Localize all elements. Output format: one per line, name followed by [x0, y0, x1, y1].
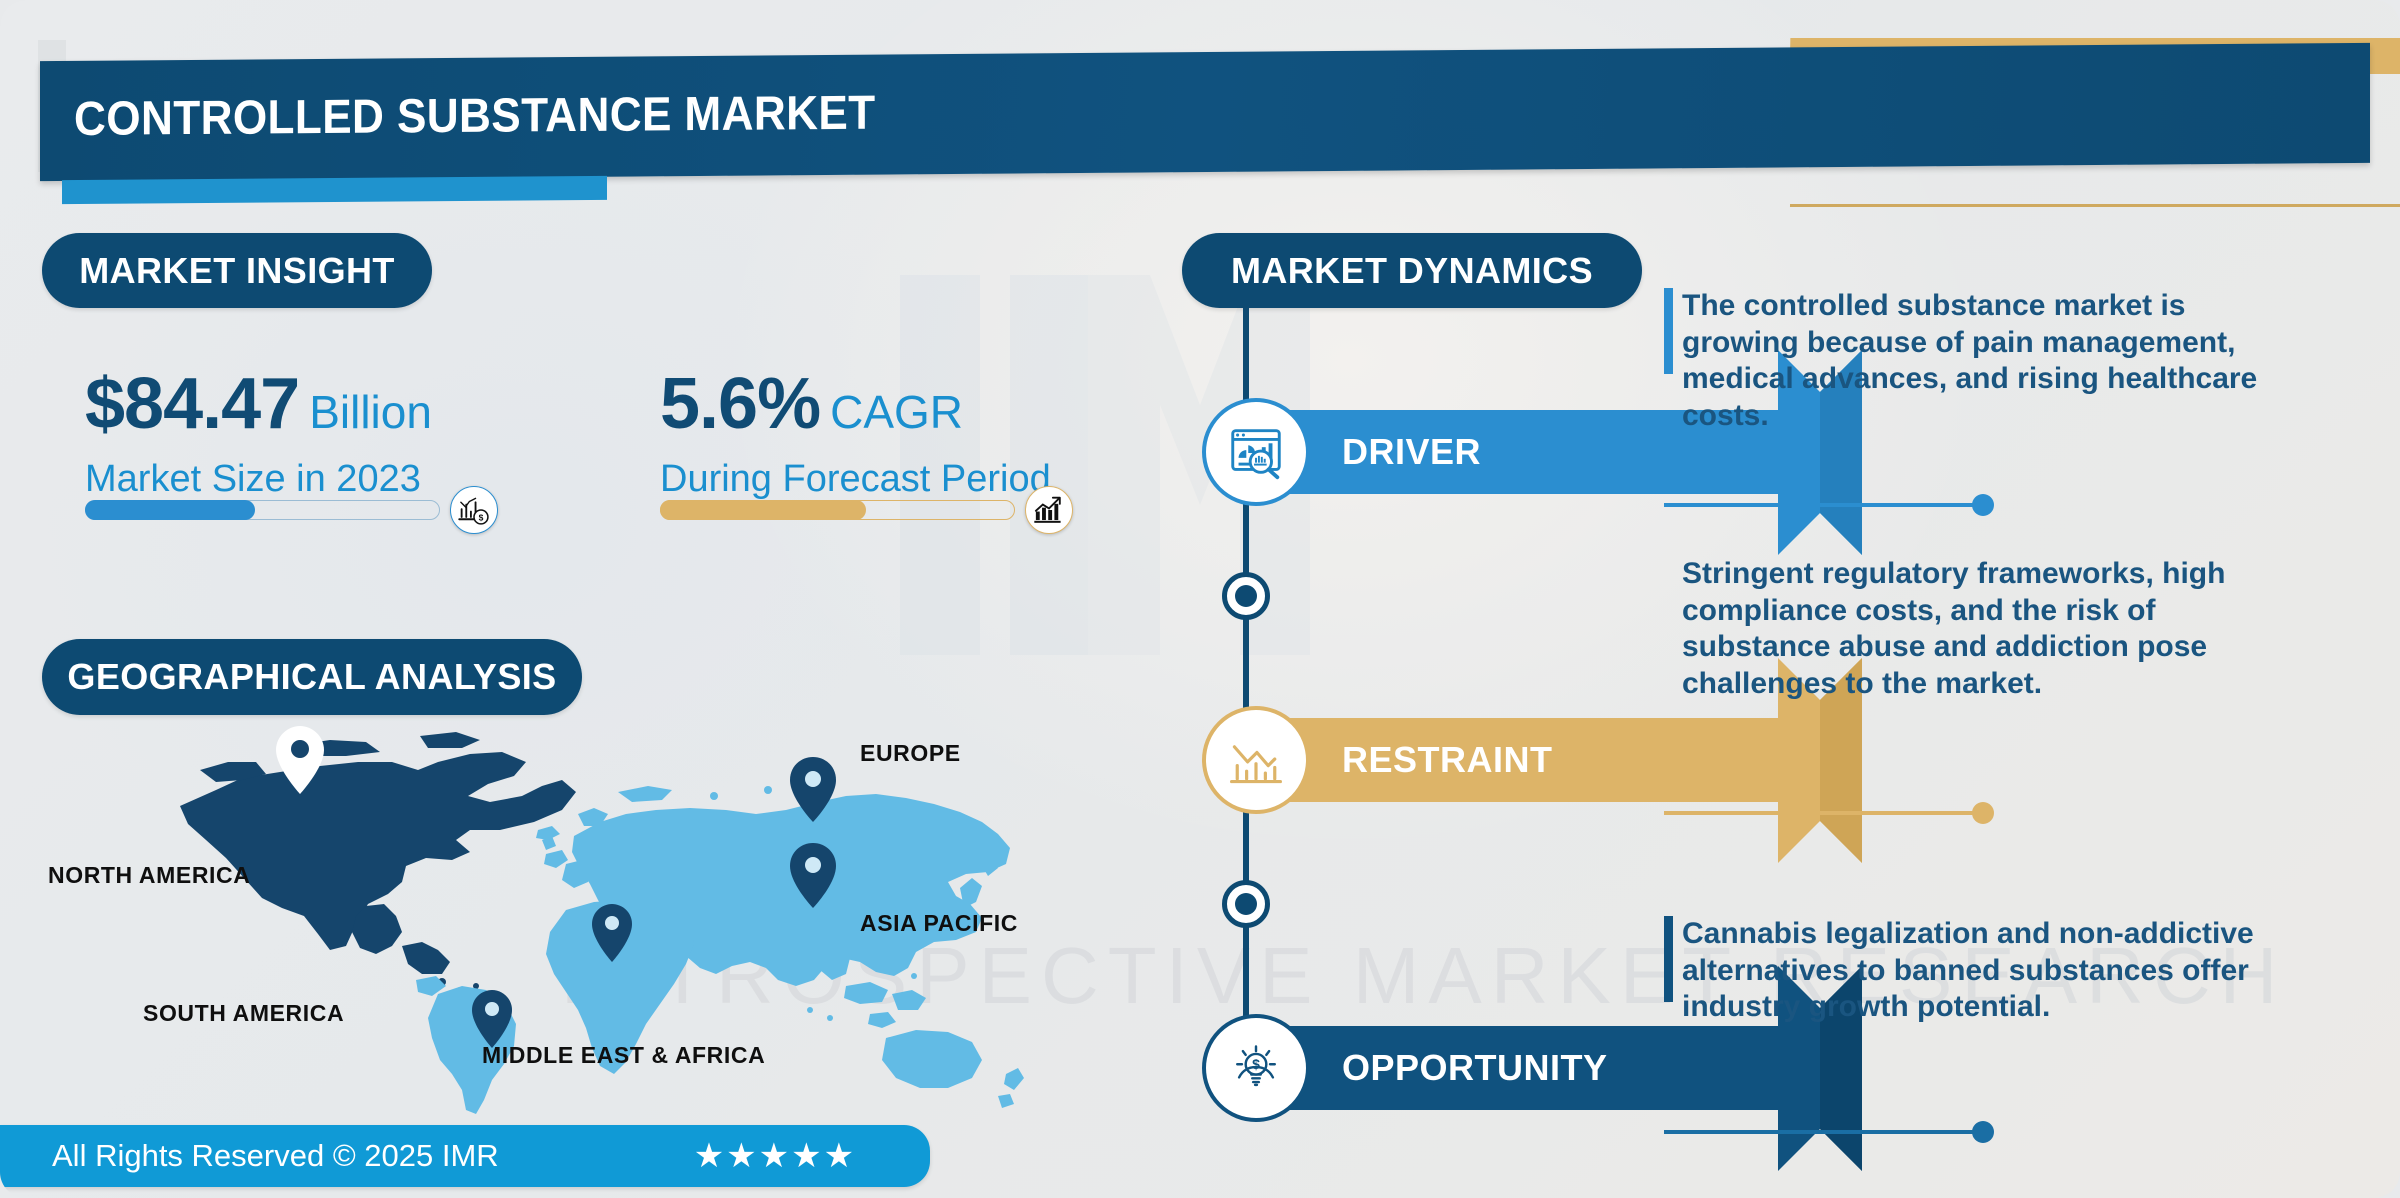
- geographical-analysis-badge: GEOGRAPHICAL ANALYSIS: [42, 639, 582, 715]
- region-label-europe: EUROPE: [860, 740, 961, 767]
- growth-chart-icon: [1025, 486, 1073, 534]
- stat-market-size: $84.47Billion Market Size in 2023 $: [85, 368, 605, 501]
- restraint-underline: [1664, 811, 1984, 815]
- driver-underline: [1664, 503, 1984, 507]
- timeline-node: [1222, 880, 1270, 928]
- header-title-container: CONTROLLED SUBSTANCE MARKET: [52, 39, 2372, 181]
- footer-bar: All Rights Reserved © 2025 IMR ★★★★★: [0, 1125, 930, 1187]
- svg-text:$: $: [1252, 1056, 1260, 1072]
- market-insight-badge: MARKET INSIGHT: [42, 233, 432, 308]
- region-label-south-america: SOUTH AMERICA: [143, 1000, 344, 1027]
- opportunity-endpoint-dot: [1972, 1121, 1994, 1143]
- driver-text: The controlled substance market is growi…: [1682, 288, 2302, 434]
- opportunity-text: Cannabis legalization and non-addictive …: [1682, 916, 2302, 1026]
- region-label-middle-east-africa: MIDDLE EAST & AFRICA: [482, 1042, 765, 1069]
- progress-fill: [85, 500, 255, 520]
- dashboard-analytics-icon: [1202, 398, 1310, 506]
- svg-text:$: $: [479, 512, 484, 522]
- header-blue-strip: [62, 176, 607, 204]
- header-gold-rule: [1790, 204, 2400, 207]
- bar-chart-dollar-icon: $: [450, 486, 498, 534]
- stat-cagr: 5.6%CAGR During Forecast Period: [660, 368, 1180, 501]
- restraint-label: RESTRAINT: [1342, 718, 1553, 802]
- lightbulb-dollar-icon: $: [1202, 1014, 1310, 1122]
- driver-label: DRIVER: [1342, 410, 1481, 494]
- star-rating: ★★★★★: [694, 1136, 856, 1176]
- page-title: CONTROLLED SUBSTANCE MARKET: [74, 85, 876, 146]
- timeline-node: [1222, 572, 1270, 620]
- opportunity-text-tick: [1664, 916, 1673, 1002]
- progress-fill: [660, 500, 866, 520]
- market-size-unit: Billion: [309, 386, 432, 438]
- driver-endpoint-dot: [1972, 494, 1994, 516]
- region-label-asia-pacific: ASIA PACIFIC: [860, 910, 1018, 937]
- restraint-text: Stringent regulatory frameworks, high co…: [1682, 556, 2302, 702]
- infographic-canvas: INTROSPECTIVE MARKET RESEARCH CONTROLLED…: [0, 0, 2400, 1198]
- declining-bar-chart-icon: [1202, 706, 1310, 814]
- copyright-text: All Rights Reserved © 2025 IMR: [52, 1138, 499, 1174]
- cagr-value: 5.6%: [660, 364, 820, 444]
- driver-text-tick: [1664, 288, 1673, 374]
- opportunity-label: OPPORTUNITY: [1342, 1026, 1608, 1110]
- market-size-progress: $: [85, 486, 505, 534]
- region-label-north-america: NORTH AMERICA: [48, 862, 250, 889]
- opportunity-underline: [1664, 1130, 1984, 1134]
- restraint-endpoint-dot: [1972, 802, 1994, 824]
- cagr-progress: [660, 486, 1080, 534]
- market-dynamics-badge: MARKET DYNAMICS: [1182, 233, 1642, 308]
- market-size-value: $84.47: [85, 364, 299, 444]
- cagr-unit: CAGR: [830, 386, 963, 438]
